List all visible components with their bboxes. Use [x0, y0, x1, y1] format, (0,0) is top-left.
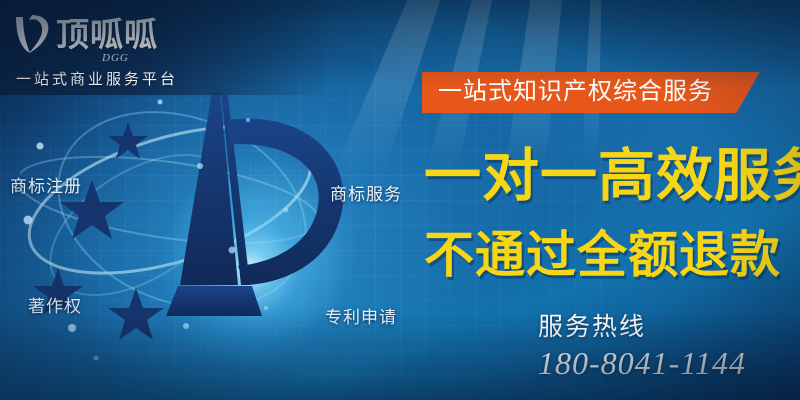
hotline-number[interactable]: 180-8041-1144 [538, 345, 746, 382]
keyword-trademark-registration: 商标注册 [10, 172, 82, 197]
keyword-trademark-service: 商标服务 [330, 180, 402, 205]
hotline-label: 服务热线 [538, 307, 646, 343]
brand-abbr: DGG [102, 52, 129, 64]
brand-name: 顶呱呱 [56, 18, 158, 51]
keyword-copyright: 著作权 [28, 292, 82, 317]
headline-secondary: 不通过全额退款 [424, 228, 781, 282]
brand-logo[interactable]: 顶呱呱 DGG 一站式商业服务平台 [10, 8, 210, 93]
headline-primary: 一对一高效服务 [424, 146, 800, 206]
keyword-patent-application: 专利申请 [325, 303, 397, 328]
brand-tagline: 一站式商业服务平台 [16, 68, 178, 89]
ribbon-text: 一站式知识产权综合服务 [438, 78, 713, 106]
leaf-check-mark-icon [10, 11, 54, 57]
promotional-banner: 顶呱呱 DGG 一站式商业服务平台 商标注册 著作权 商标服务 专利申请 一站式… [0, 0, 800, 400]
